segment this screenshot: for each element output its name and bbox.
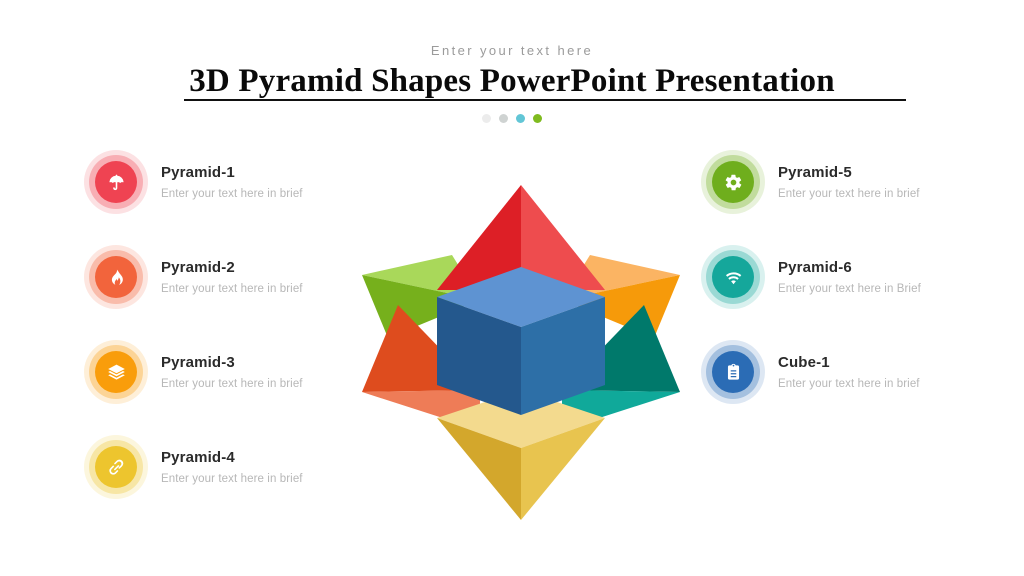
dot-4[interactable] (533, 114, 542, 123)
list-item-subtitle: Enter your text here in brief (161, 188, 303, 201)
eyebrow-text: Enter your text here (0, 43, 1024, 58)
list-item-subtitle: Enter your text here in brief (778, 378, 920, 391)
dot-3[interactable] (516, 114, 525, 123)
list-item-pyramid-1[interactable]: Pyramid-1 Enter your text here in brief (84, 150, 303, 214)
icon-badge-pyramid-1[interactable] (84, 150, 148, 214)
list-item-subtitle: Enter your text here in brief (778, 188, 920, 201)
list-item-labels: Pyramid-4 Enter your text here in brief (161, 449, 303, 486)
page-title: 3D Pyramid Shapes PowerPoint Presentatio… (0, 63, 1024, 100)
diagram-svg (340, 140, 702, 540)
center-cube[interactable] (437, 267, 605, 415)
dot-2[interactable] (499, 114, 508, 123)
list-item-title: Pyramid-1 (161, 164, 303, 181)
flame-icon (95, 256, 137, 298)
dot-1[interactable] (482, 114, 491, 123)
pyramid-cluster-diagram (340, 140, 702, 540)
list-item-title: Pyramid-5 (778, 164, 920, 181)
list-item-title: Cube-1 (778, 354, 920, 371)
dot-indicator-group (0, 114, 1024, 123)
title-underline (184, 99, 906, 101)
umbrella-icon (95, 161, 137, 203)
list-item-title: Pyramid-3 (161, 354, 303, 371)
list-item-title: Pyramid-6 (778, 259, 921, 276)
list-item-subtitle: Enter your text here in brief (161, 378, 303, 391)
icon-badge-pyramid-4[interactable] (84, 435, 148, 499)
layers-icon (95, 351, 137, 393)
list-item-labels: Pyramid-5 Enter your text here in brief (778, 164, 920, 201)
list-item-title: Pyramid-2 (161, 259, 303, 276)
list-item-pyramid-3[interactable]: Pyramid-3 Enter your text here in brief (84, 340, 303, 404)
gear-icon (712, 161, 754, 203)
icon-badge-pyramid-2[interactable] (84, 245, 148, 309)
list-item-labels: Pyramid-2 Enter your text here in brief (161, 259, 303, 296)
slide-canvas: Enter your text here 3D Pyramid Shapes P… (0, 0, 1024, 576)
wifi-icon (712, 256, 754, 298)
list-item-labels: Pyramid-6 Enter your text here in Brief (778, 259, 921, 296)
icon-badge-cube-1[interactable] (701, 340, 765, 404)
link-icon (95, 446, 137, 488)
list-item-labels: Cube-1 Enter your text here in brief (778, 354, 920, 391)
list-item-pyramid-2[interactable]: Pyramid-2 Enter your text here in brief (84, 245, 303, 309)
clipboard-icon (712, 351, 754, 393)
list-item-subtitle: Enter your text here in brief (161, 283, 303, 296)
list-item-pyramid-4[interactable]: Pyramid-4 Enter your text here in brief (84, 435, 303, 499)
list-item-pyramid-6[interactable]: Pyramid-6 Enter your text here in Brief (701, 245, 921, 309)
icon-badge-pyramid-3[interactable] (84, 340, 148, 404)
icon-badge-pyramid-5[interactable] (701, 150, 765, 214)
icon-badge-pyramid-6[interactable] (701, 245, 765, 309)
list-item-title: Pyramid-4 (161, 449, 303, 466)
list-item-subtitle: Enter your text here in Brief (778, 283, 921, 296)
list-item-cube-1[interactable]: Cube-1 Enter your text here in brief (701, 340, 920, 404)
list-item-labels: Pyramid-3 Enter your text here in brief (161, 354, 303, 391)
list-item-subtitle: Enter your text here in brief (161, 473, 303, 486)
list-item-labels: Pyramid-1 Enter your text here in brief (161, 164, 303, 201)
list-item-pyramid-5[interactable]: Pyramid-5 Enter your text here in brief (701, 150, 920, 214)
